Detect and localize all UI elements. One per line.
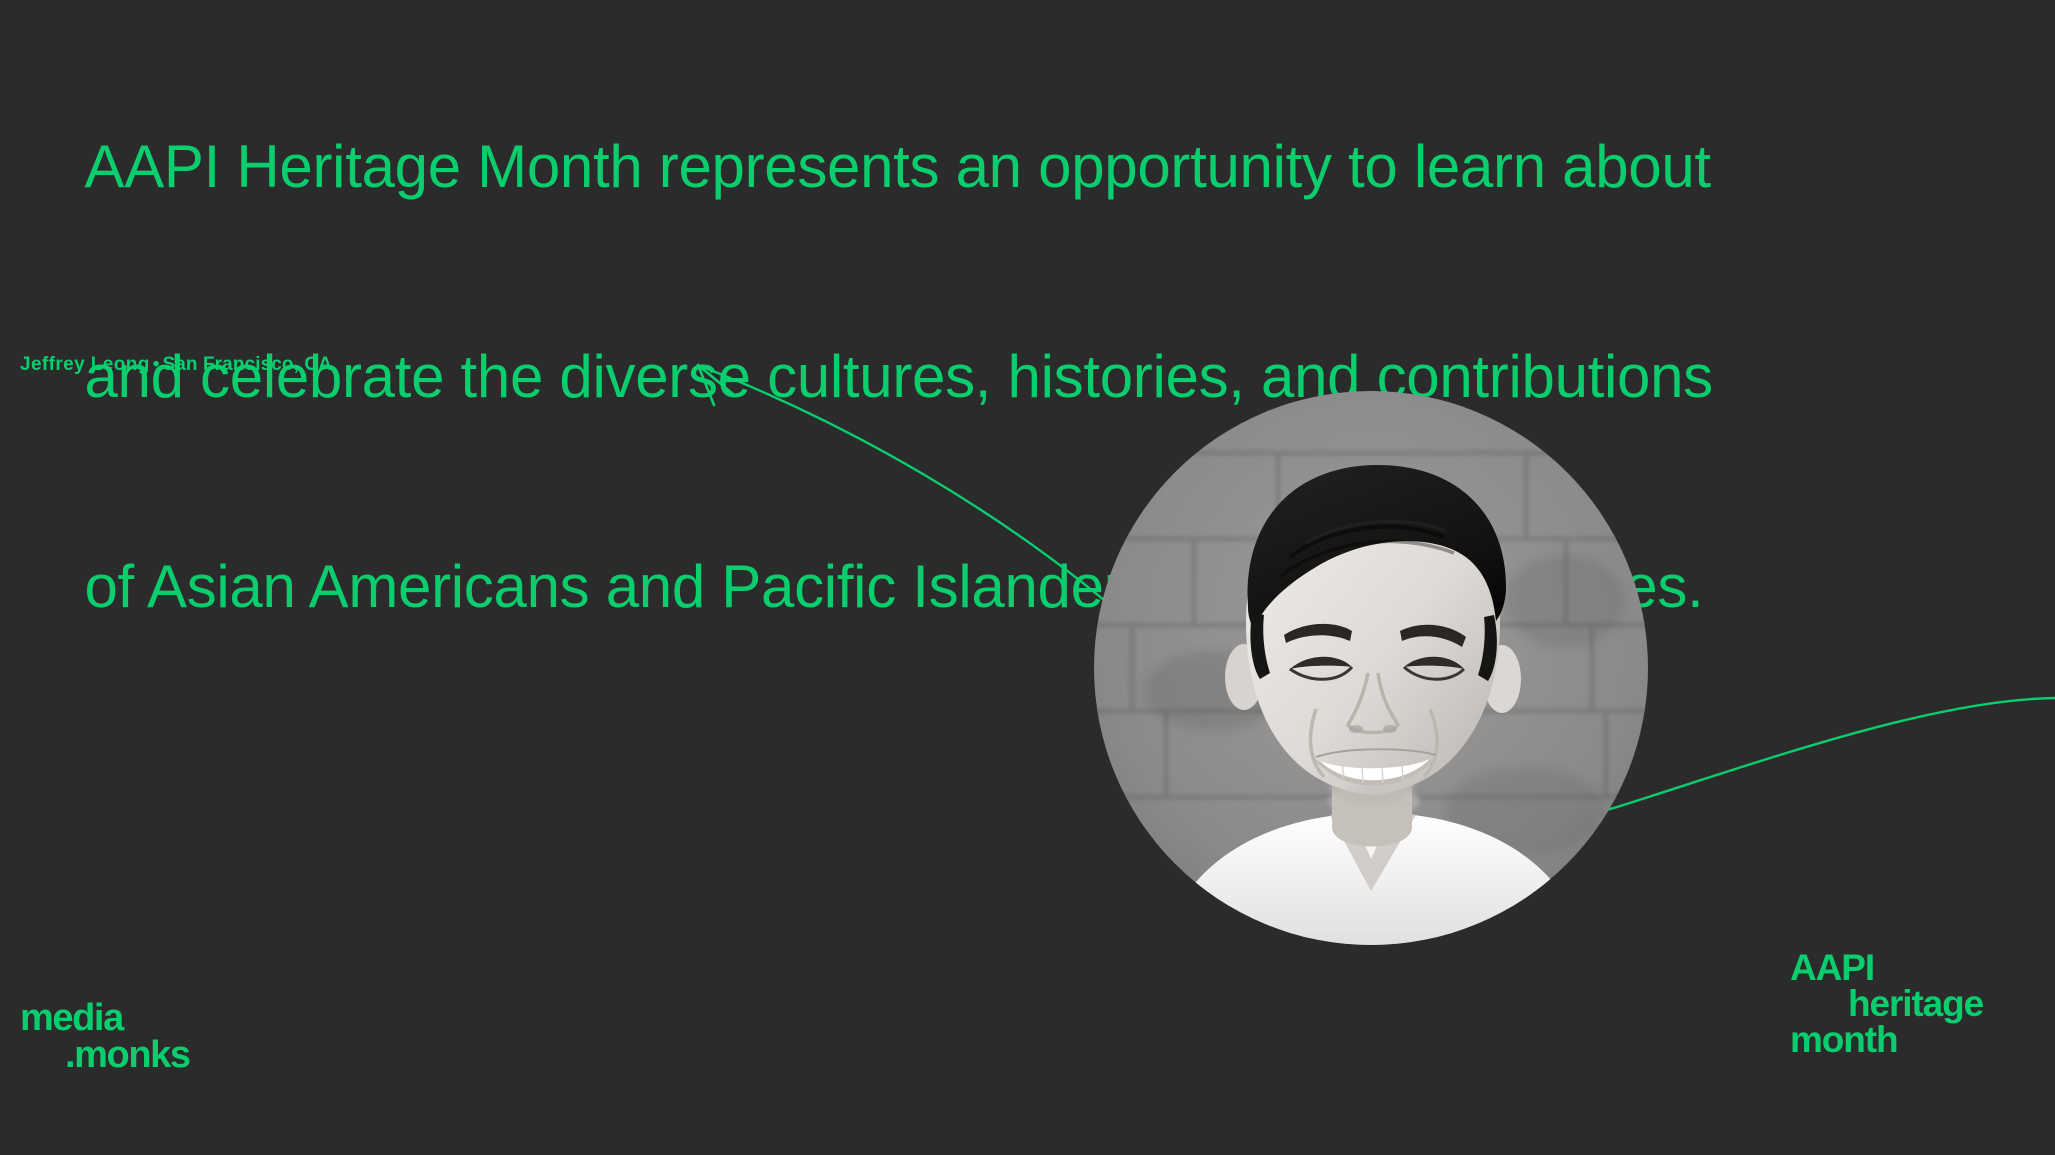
aapi-heritage-month-graphic: AAPI Heritage Month represents an opport… [0,0,2055,1155]
attribution-separator-bullet: • [150,354,163,375]
portrait-avatar [1094,391,1648,945]
headline-line-1: AAPI Heritage Month represents an opport… [84,133,1710,200]
aapi-heritage-month-logo: AAPI heritage month [1790,950,1983,1058]
portrait-illustration [1094,391,1648,945]
attribution-location: San Francisco, CA [162,354,332,375]
attribution: Jeffrey Leong•San Francisco, CA [20,352,332,378]
media-monks-logo: media .monks [20,1000,190,1074]
attribution-person-name: Jeffrey Leong [20,354,150,375]
aapi-logo-line-1: AAPI [1790,950,1983,986]
media-monks-logo-line-1: media [20,997,123,1039]
aapi-logo-line-3: month [1790,1022,1983,1058]
media-monks-logo-line-2: .monks [20,1037,190,1074]
aapi-logo-line-2: heritage [1790,986,1983,1022]
